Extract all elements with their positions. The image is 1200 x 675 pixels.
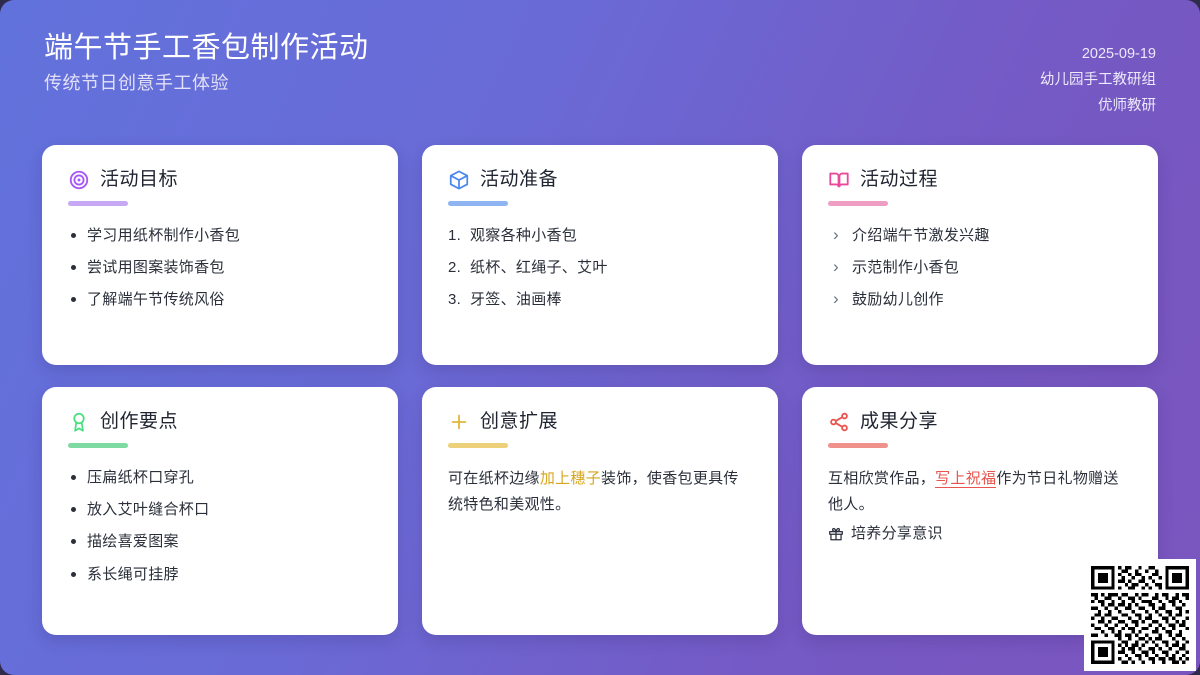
accent-bar (828, 443, 888, 448)
accent-bar (448, 201, 508, 206)
accent-bar (68, 443, 128, 448)
share-icon (828, 411, 850, 433)
meta-brand: 优师教研 (1098, 96, 1156, 117)
card-title: 活动过程 (860, 169, 938, 192)
card-grid: 活动目标 学习用纸杯制作小香包 尝试用图案装饰香包 了解端午节传统风俗 活动准备… (42, 145, 1158, 635)
paragraph-before: 可在纸杯边缘 (448, 470, 540, 487)
slide-canvas: 端午节手工香包制作活动 传统节日创意手工体验 2025-09-19 幼儿园手工教… (0, 0, 1200, 675)
page-subtitle: 传统节日创意手工体验 (44, 72, 369, 95)
card-activity-process[interactable]: 活动过程 介绍端午节激发兴趣 示范制作小香包 鼓励幼儿创作 (802, 145, 1158, 365)
list-item: 系长绳可挂脖 (68, 563, 372, 586)
sharing-paragraph: 互相欣赏作品，写上祝福作为节日礼物赠送他人。 (828, 466, 1132, 518)
gift-icon (828, 526, 844, 542)
card-activity-preparation[interactable]: 活动准备 观察各种小香包 纸杯、红绳子、艾叶 牙签、油画棒 (422, 145, 778, 365)
paragraph-before: 互相欣赏作品， (828, 470, 935, 487)
card-title: 成果分享 (860, 411, 938, 434)
card-title: 创作要点 (100, 411, 178, 434)
list-item: 示范制作小香包 (828, 256, 1132, 279)
card-title: 活动准备 (480, 169, 558, 192)
plus-icon (448, 411, 470, 433)
goal-list: 学习用纸杯制作小香包 尝试用图案装饰香包 了解端午节传统风俗 (68, 224, 372, 312)
qr-code[interactable] (1084, 559, 1196, 671)
book-icon (828, 169, 850, 191)
list-item: 了解端午节传统风俗 (68, 288, 372, 311)
header-meta: 2025-09-19 幼儿园手工教研组 优师教研 (1040, 30, 1156, 117)
card-title: 创意扩展 (480, 411, 558, 434)
qr-code-graphic (1091, 566, 1189, 664)
accent-bar (68, 201, 128, 206)
list-item: 鼓励幼儿创作 (828, 288, 1132, 311)
card-header: 活动准备 (448, 169, 752, 192)
card-header: 创作要点 (68, 411, 372, 434)
card-activity-goals[interactable]: 活动目标 学习用纸杯制作小香包 尝试用图案装饰香包 了解端午节传统风俗 (42, 145, 398, 365)
card-header: 成果分享 (828, 411, 1132, 434)
list-item: 介绍端午节激发兴趣 (828, 224, 1132, 247)
list-item: 尝试用图案装饰香包 (68, 256, 372, 279)
list-item: 描绘喜爱图案 (68, 530, 372, 553)
slide-header: 端午节手工香包制作活动 传统节日创意手工体验 2025-09-19 幼儿园手工教… (0, 0, 1200, 130)
card-header: 创意扩展 (448, 411, 752, 434)
page-title: 端午节手工香包制作活动 (44, 30, 369, 66)
target-icon (68, 169, 90, 191)
extension-paragraph: 可在纸杯边缘加上穗子装饰，使香包更具传统特色和美观性。 (448, 466, 752, 518)
card-creation-keypoints[interactable]: 创作要点 压扁纸杯口穿孔 放入艾叶缝合杯口 描绘喜爱图案 系长绳可挂脖 (42, 387, 398, 635)
accent-bar (828, 201, 888, 206)
card-header: 活动目标 (68, 169, 372, 192)
preparation-list: 观察各种小香包 纸杯、红绳子、艾叶 牙签、油画棒 (448, 224, 752, 312)
list-item: 学习用纸杯制作小香包 (68, 224, 372, 247)
sharing-note: 培养分享意识 (828, 521, 1132, 547)
card-header: 活动过程 (828, 169, 1132, 192)
accent-bar (448, 443, 508, 448)
list-item: 观察各种小香包 (448, 224, 752, 247)
card-title: 活动目标 (100, 169, 178, 192)
list-item: 纸杯、红绳子、艾叶 (448, 256, 752, 279)
highlight-text: 写上祝福 (935, 470, 996, 488)
highlight-text: 加上穗子 (540, 470, 601, 487)
keypoint-list: 压扁纸杯口穿孔 放入艾叶缝合杯口 描绘喜爱图案 系长绳可挂脖 (68, 466, 372, 586)
card-creative-extension[interactable]: 创意扩展 可在纸杯边缘加上穗子装饰，使香包更具传统特色和美观性。 (422, 387, 778, 635)
list-item: 放入艾叶缝合杯口 (68, 498, 372, 521)
process-list: 介绍端午节激发兴趣 示范制作小香包 鼓励幼儿创作 (828, 224, 1132, 312)
note-text: 培养分享意识 (851, 521, 943, 547)
header-text-group: 端午节手工香包制作活动 传统节日创意手工体验 (44, 30, 369, 96)
meta-organization: 幼儿园手工教研组 (1040, 70, 1156, 91)
meta-date: 2025-09-19 (1082, 44, 1156, 65)
list-item: 压扁纸杯口穿孔 (68, 466, 372, 489)
package-icon (448, 169, 470, 191)
list-item: 牙签、油画棒 (448, 288, 752, 311)
award-icon (68, 411, 90, 433)
